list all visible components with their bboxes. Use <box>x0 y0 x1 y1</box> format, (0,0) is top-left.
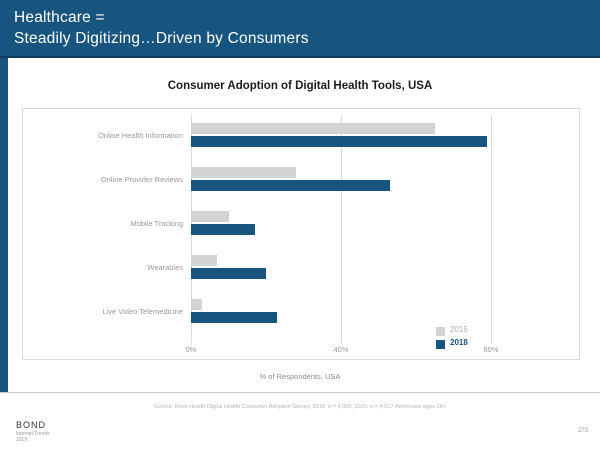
chart-title: Consumer Adoption of Digital Health Tool… <box>0 80 600 92</box>
gridline <box>491 115 492 343</box>
bar-2018 <box>191 312 277 323</box>
left-accent-bar <box>0 58 8 392</box>
brand-name: BOND <box>16 420 106 430</box>
chart-plot-area: Online Health InformationOnline Provider… <box>22 108 580 360</box>
brand-subtitle: Internet Trends 2019 <box>16 431 106 443</box>
slide: Healthcare = Steadily Digitizing…Driven … <box>0 0 600 450</box>
category-label: Online Provider Reviews <box>23 175 189 184</box>
bar-2018 <box>191 180 390 191</box>
bar-2015 <box>191 211 229 222</box>
bar-2015 <box>191 299 202 310</box>
bar-2018 <box>191 136 487 147</box>
bar-2015 <box>191 255 217 266</box>
bar-2018 <box>191 268 266 279</box>
category-label-text: Wearables <box>23 263 189 272</box>
x-axis-title: % of Respondents, USA <box>0 372 600 381</box>
chart-legend: 2015 2018 <box>436 325 506 351</box>
page-number: 273 <box>578 428 588 434</box>
gridline <box>341 115 342 343</box>
legend-item-2018: 2018 <box>436 338 506 351</box>
legend-label-2018: 2018 <box>450 338 468 347</box>
category-label-text: Online Health Information <box>23 131 189 140</box>
slide-header: Healthcare = Steadily Digitizing…Driven … <box>0 0 600 58</box>
category-label: Wearables <box>23 263 189 272</box>
category-label: Mobile Tracking <box>23 219 189 228</box>
header-underline <box>0 56 600 58</box>
x-axis-tick: 40% <box>321 345 361 354</box>
bar-2015 <box>191 167 296 178</box>
legend-swatch-2018 <box>436 340 445 349</box>
bar-2018 <box>191 224 255 235</box>
legend-item-2015: 2015 <box>436 325 506 338</box>
category-label-text: Live Video Telemedicine <box>23 307 189 316</box>
category-label-text: Online Provider Reviews <box>23 175 189 184</box>
legend-swatch-2015 <box>436 327 445 336</box>
bar-2015 <box>191 123 435 134</box>
footer-divider <box>0 392 600 393</box>
header-title: Healthcare = Steadily Digitizing…Driven … <box>14 7 574 49</box>
category-label: Online Health Information <box>23 131 189 140</box>
source-note: Source: Rock Health Digital Health Consu… <box>0 404 600 410</box>
brand-logo: BOND Internet Trends 2019 <box>16 420 106 443</box>
x-axis-tick: 0% <box>171 345 211 354</box>
legend-label-2015: 2015 <box>450 325 468 334</box>
category-label: Live Video Telemedicine <box>23 307 189 316</box>
category-label-text: Mobile Tracking <box>23 219 189 228</box>
